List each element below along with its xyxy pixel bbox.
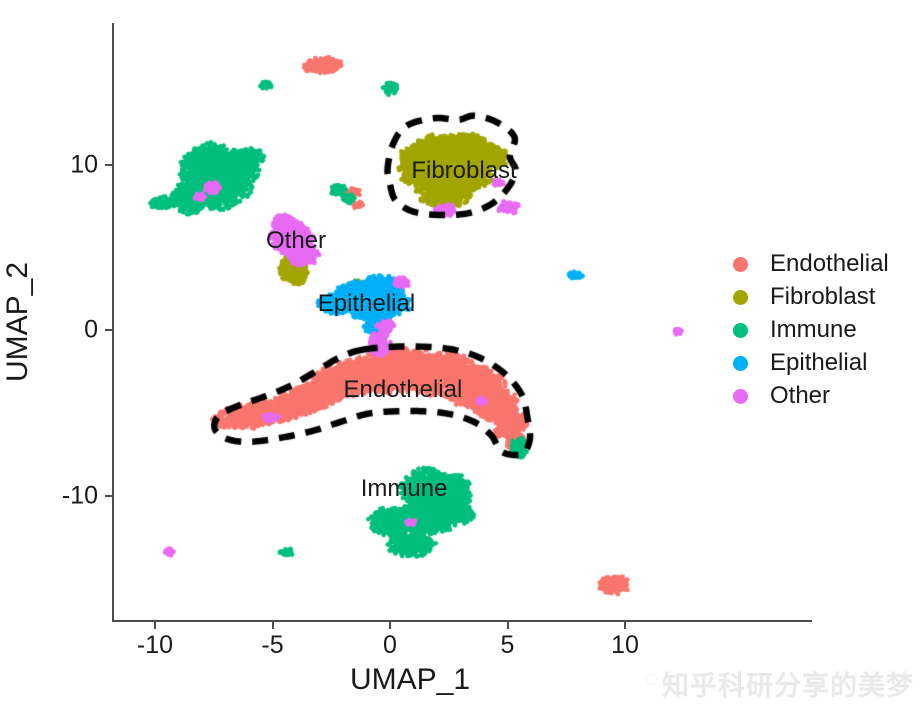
legend-item-label: Immune xyxy=(770,318,857,342)
legend-color-swatch-icon xyxy=(733,389,748,404)
legend-item-other[interactable]: Other xyxy=(733,380,889,412)
legend-color-swatch-icon xyxy=(733,356,748,371)
x-tick-label: 0 xyxy=(383,631,397,660)
legend-item-fibroblast[interactable]: Fibroblast xyxy=(733,281,889,313)
x-tick-label: -10 xyxy=(137,631,173,660)
legend-item-label: Epithelial xyxy=(770,351,867,375)
x-tick-label: 10 xyxy=(611,631,639,660)
legend-item-immune[interactable]: Immune xyxy=(733,314,889,346)
x-tick-label: -5 xyxy=(261,631,283,660)
x-tick xyxy=(272,622,274,629)
x-tick xyxy=(389,622,391,629)
y-tick xyxy=(105,329,112,331)
legend-item-endothelial[interactable]: Endothelial xyxy=(733,248,889,280)
y-tick-label: 10 xyxy=(70,150,98,179)
y-axis-title: UMAP_2 xyxy=(1,262,35,382)
y-axis-line xyxy=(112,23,114,622)
legend-color-swatch-icon xyxy=(733,290,748,305)
legend-item-label: Other xyxy=(770,384,830,408)
legend-item-label: Endothelial xyxy=(770,252,889,276)
x-tick xyxy=(624,622,626,629)
legend-item-epithelial[interactable]: Epithelial xyxy=(733,347,889,379)
umap-figure: -10-50510100-10 UMAP_1 UMAP_2 Fibroblast… xyxy=(0,0,920,721)
y-tick-label: 0 xyxy=(84,316,98,345)
y-tick-label: -10 xyxy=(62,481,98,510)
legend-item-label: Fibroblast xyxy=(770,285,875,309)
x-axis-title: UMAP_1 xyxy=(350,663,470,697)
x-tick xyxy=(507,622,509,629)
x-axis-line xyxy=(112,620,812,622)
watermark-text: 知乎科研分享的美梦 xyxy=(662,664,914,703)
x-tick-label: 5 xyxy=(501,631,515,660)
legend: EndothelialFibroblastImmuneEpithelialOth… xyxy=(733,248,889,413)
y-tick xyxy=(105,495,112,497)
legend-color-swatch-icon xyxy=(733,323,748,338)
legend-color-swatch-icon xyxy=(733,257,748,272)
y-tick xyxy=(105,164,112,166)
x-tick xyxy=(154,622,156,629)
